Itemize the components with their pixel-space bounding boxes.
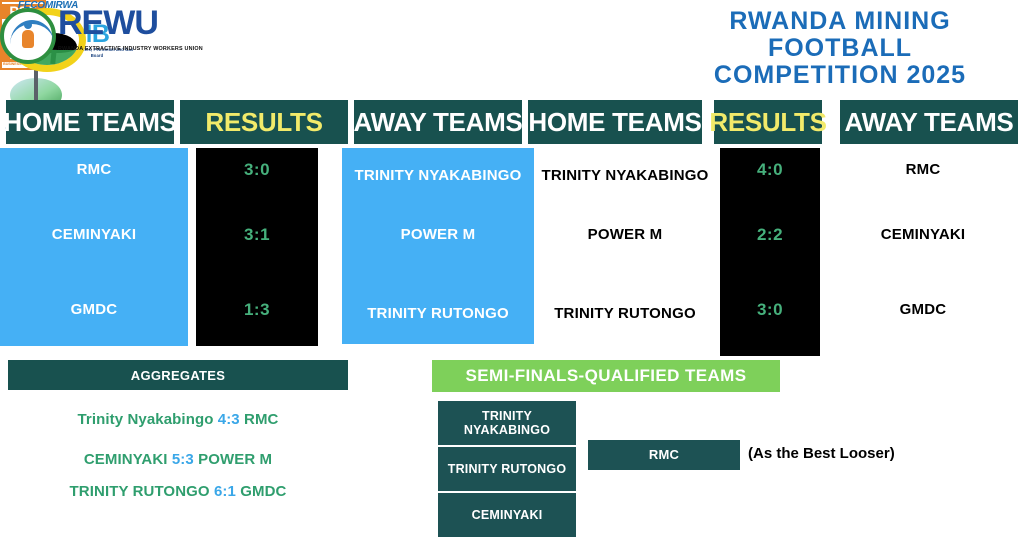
left-result-1: 3:0	[196, 160, 318, 180]
left-home-team-2: CEMINYAKI	[0, 223, 188, 247]
right-result-1: 4:0	[720, 160, 820, 180]
left-away-team-2: POWER M	[342, 223, 534, 247]
page-title-line-3: COMPETITION 2025	[670, 62, 1010, 89]
left-result-3: 1:3	[196, 300, 318, 320]
aggregate-1-team-b: RMC	[244, 411, 278, 428]
semi-finals-banner: SEMI-FINALS-QUALIFIED TEAMS	[432, 360, 780, 392]
left-header-away-teams: AWAY TEAMS	[354, 100, 522, 144]
page-title: RWANDA MINING FOOTBALL COMPETITION 2025	[670, 8, 1010, 89]
right-away-team-3: GMDC	[828, 298, 1018, 322]
aggregate-1-team-a: Trinity Nyakabingo	[77, 411, 213, 428]
best-looser-note: (As the Best Looser)	[748, 445, 895, 462]
right-header-results: RESULTS	[714, 100, 822, 144]
right-header-home-teams: HOME TEAMS	[528, 100, 702, 144]
left-home-team-3: GMDC	[0, 298, 188, 322]
left-header-home-teams: HOME TEAMS	[6, 100, 174, 144]
left-header-results: RESULTS	[180, 100, 348, 144]
semi-final-team-1: TRINITY NYAKABINGO	[438, 401, 576, 445]
aggregate-2-team-b: POWER M	[198, 451, 272, 468]
aggregates-banner: AGGREGATES	[8, 360, 348, 390]
aggregate-line-2: CEMINYAKI 5:3 POWER M	[8, 451, 348, 468]
right-result-2: 2:2	[720, 225, 820, 245]
page-title-line-1: RWANDA MINING	[670, 8, 1010, 35]
semi-final-team-2: TRINITY RUTONGO	[438, 447, 576, 491]
left-away-team-3: TRINITY RUTONGO	[342, 296, 534, 332]
right-result-3: 3:0	[720, 300, 820, 320]
right-home-team-2: POWER M	[530, 223, 720, 247]
left-home-team-1: RMC	[0, 158, 188, 182]
rewu-caption: RWANDA EXTRACTIVE INDUSTRY WORKERS UNION	[58, 46, 203, 52]
aggregate-2-team-a: CEMINYAKI	[84, 451, 168, 468]
right-away-team-1: RMC	[828, 158, 1018, 182]
aggregate-3-team-a: TRINITY RUTONGO	[70, 483, 210, 500]
right-header-away-teams: AWAY TEAMS	[840, 100, 1018, 144]
right-away-team-2: CEMINYAKI	[828, 223, 1018, 247]
left-result-2: 3:1	[196, 225, 318, 245]
aggregate-line-3: TRINITY RUTONGO 6:1 GMDC	[8, 483, 348, 500]
best-looser-team: RMC	[588, 440, 740, 470]
right-home-team-3: TRINITY RUTONGO	[530, 296, 720, 332]
rewu-wordmark: REWU	[58, 6, 158, 40]
sponsor-logo-strip: RMB Rwanda Mines, Petroleum and Gas Boar…	[0, 0, 700, 92]
left-away-team-1: TRINITY NYAKABINGO	[342, 158, 534, 194]
rewu-person-icon	[0, 8, 56, 64]
right-home-team-1: TRINITY NYAKABINGO	[530, 158, 720, 194]
aggregate-line-1: Trinity Nyakabingo 4:3 RMC	[8, 411, 348, 428]
aggregate-1-score: 4:3	[218, 411, 240, 428]
aggregate-3-score: 6:1	[214, 483, 236, 500]
aggregate-3-team-b: GMDC	[240, 483, 286, 500]
page-title-line-2: FOOTBALL	[670, 35, 1010, 62]
semi-final-team-3: CEMINYAKI	[438, 493, 576, 537]
aggregate-2-score: 5:3	[172, 451, 194, 468]
